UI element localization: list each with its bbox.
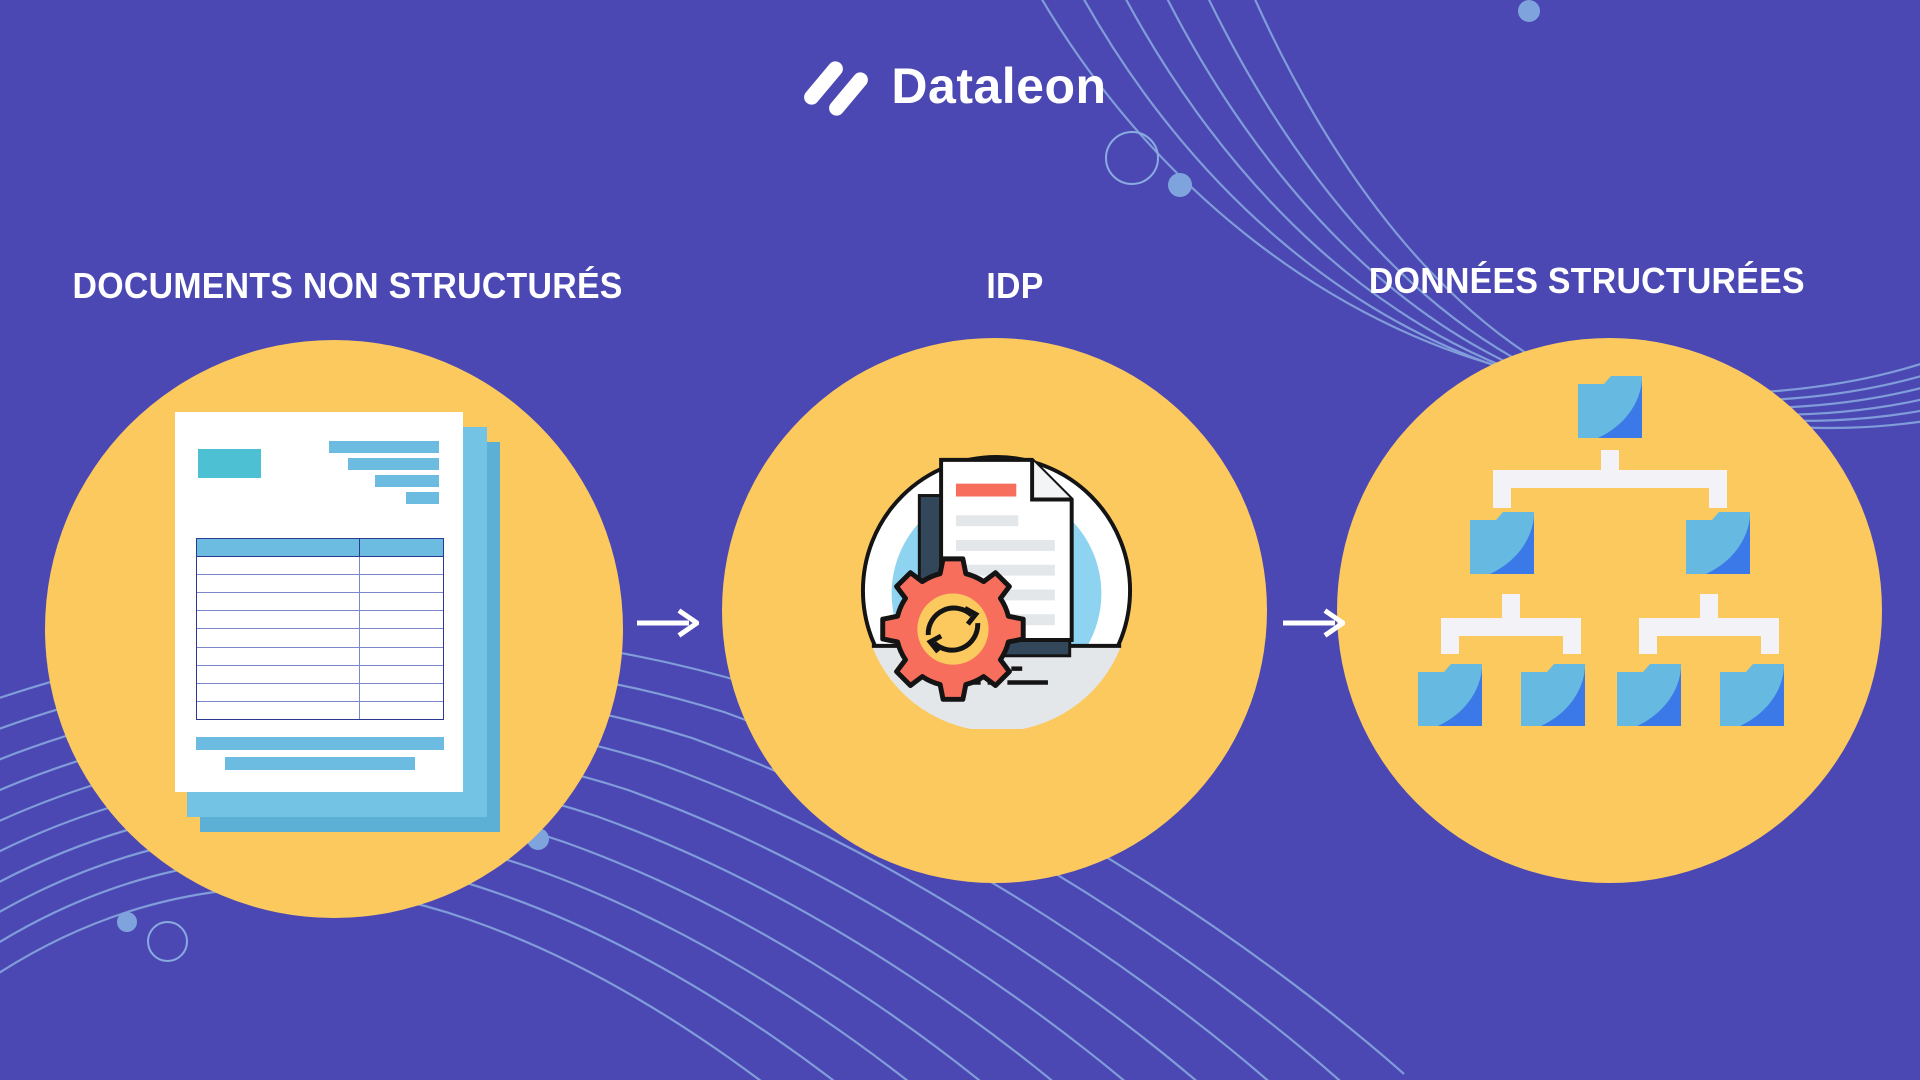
table-row [197, 557, 443, 575]
brand-logo: Dataleon [0, 58, 1920, 114]
folder-tree-icon [1395, 372, 1825, 757]
decorative-dot [1518, 0, 1540, 22]
table-cell [197, 593, 360, 610]
table-cell [360, 702, 443, 719]
decorative-ring [147, 921, 188, 962]
table-row [197, 702, 443, 719]
table-cell [360, 629, 443, 646]
table-row [197, 684, 443, 702]
table-row [197, 611, 443, 629]
table-row [197, 575, 443, 593]
table-cell [197, 648, 360, 665]
table-cell [360, 648, 443, 665]
table-header-row [197, 539, 443, 557]
table-cell [197, 575, 360, 592]
table-cell [360, 611, 443, 628]
table-row [197, 593, 443, 611]
decorative-dot [117, 912, 137, 932]
folder-leaf [1617, 664, 1681, 726]
document-header-bar [348, 458, 439, 470]
table-cell [197, 702, 360, 719]
table-cell [197, 666, 360, 683]
heading-unstructured-documents: DOCUMENTS NON STRUCTURÉS [73, 265, 623, 307]
table-cell [360, 684, 443, 701]
heading-structured-data: DONNÉES STRUCTURÉES [1369, 260, 1805, 302]
decorative-dot [1168, 173, 1192, 197]
decorative-ring [1105, 131, 1159, 185]
document-header-bar [406, 492, 439, 504]
table-cell [197, 557, 360, 574]
table-cell [360, 593, 443, 610]
folder-mid [1686, 512, 1750, 574]
document-sheet-front [175, 412, 463, 792]
folder-mid [1470, 512, 1534, 574]
folder-leaf [1720, 664, 1784, 726]
table-cell [360, 666, 443, 683]
document-footer-bar [225, 757, 415, 770]
document-header-bar [375, 475, 439, 487]
infographic-canvas: Dataleon DOCUMENTS NON STRUCTURÉS IDP DO… [0, 0, 1920, 1080]
table-cell [197, 629, 360, 646]
document-processing-gear-icon [858, 452, 1135, 729]
table-row [197, 629, 443, 647]
folder-leaf [1418, 664, 1482, 726]
double-slash-logo-icon [813, 58, 871, 114]
heading-idp: IDP [888, 265, 1142, 307]
document-logo-block [198, 449, 261, 478]
table-cell [360, 557, 443, 574]
table-row [197, 648, 443, 666]
document-header-bar [329, 441, 439, 453]
arrow-right-icon [637, 608, 699, 638]
arrow-right-icon [1283, 608, 1345, 638]
document-stack-icon [175, 412, 505, 832]
folder-root [1578, 376, 1642, 438]
table-cell [197, 539, 360, 556]
table-cell [197, 611, 360, 628]
brand-name: Dataleon [891, 61, 1106, 111]
table-cell [360, 539, 443, 556]
table-row [197, 666, 443, 684]
folder-leaf [1521, 664, 1585, 726]
table-cell [197, 684, 360, 701]
table-cell [360, 575, 443, 592]
document-table [196, 538, 444, 720]
document-footer-bar [196, 737, 444, 750]
